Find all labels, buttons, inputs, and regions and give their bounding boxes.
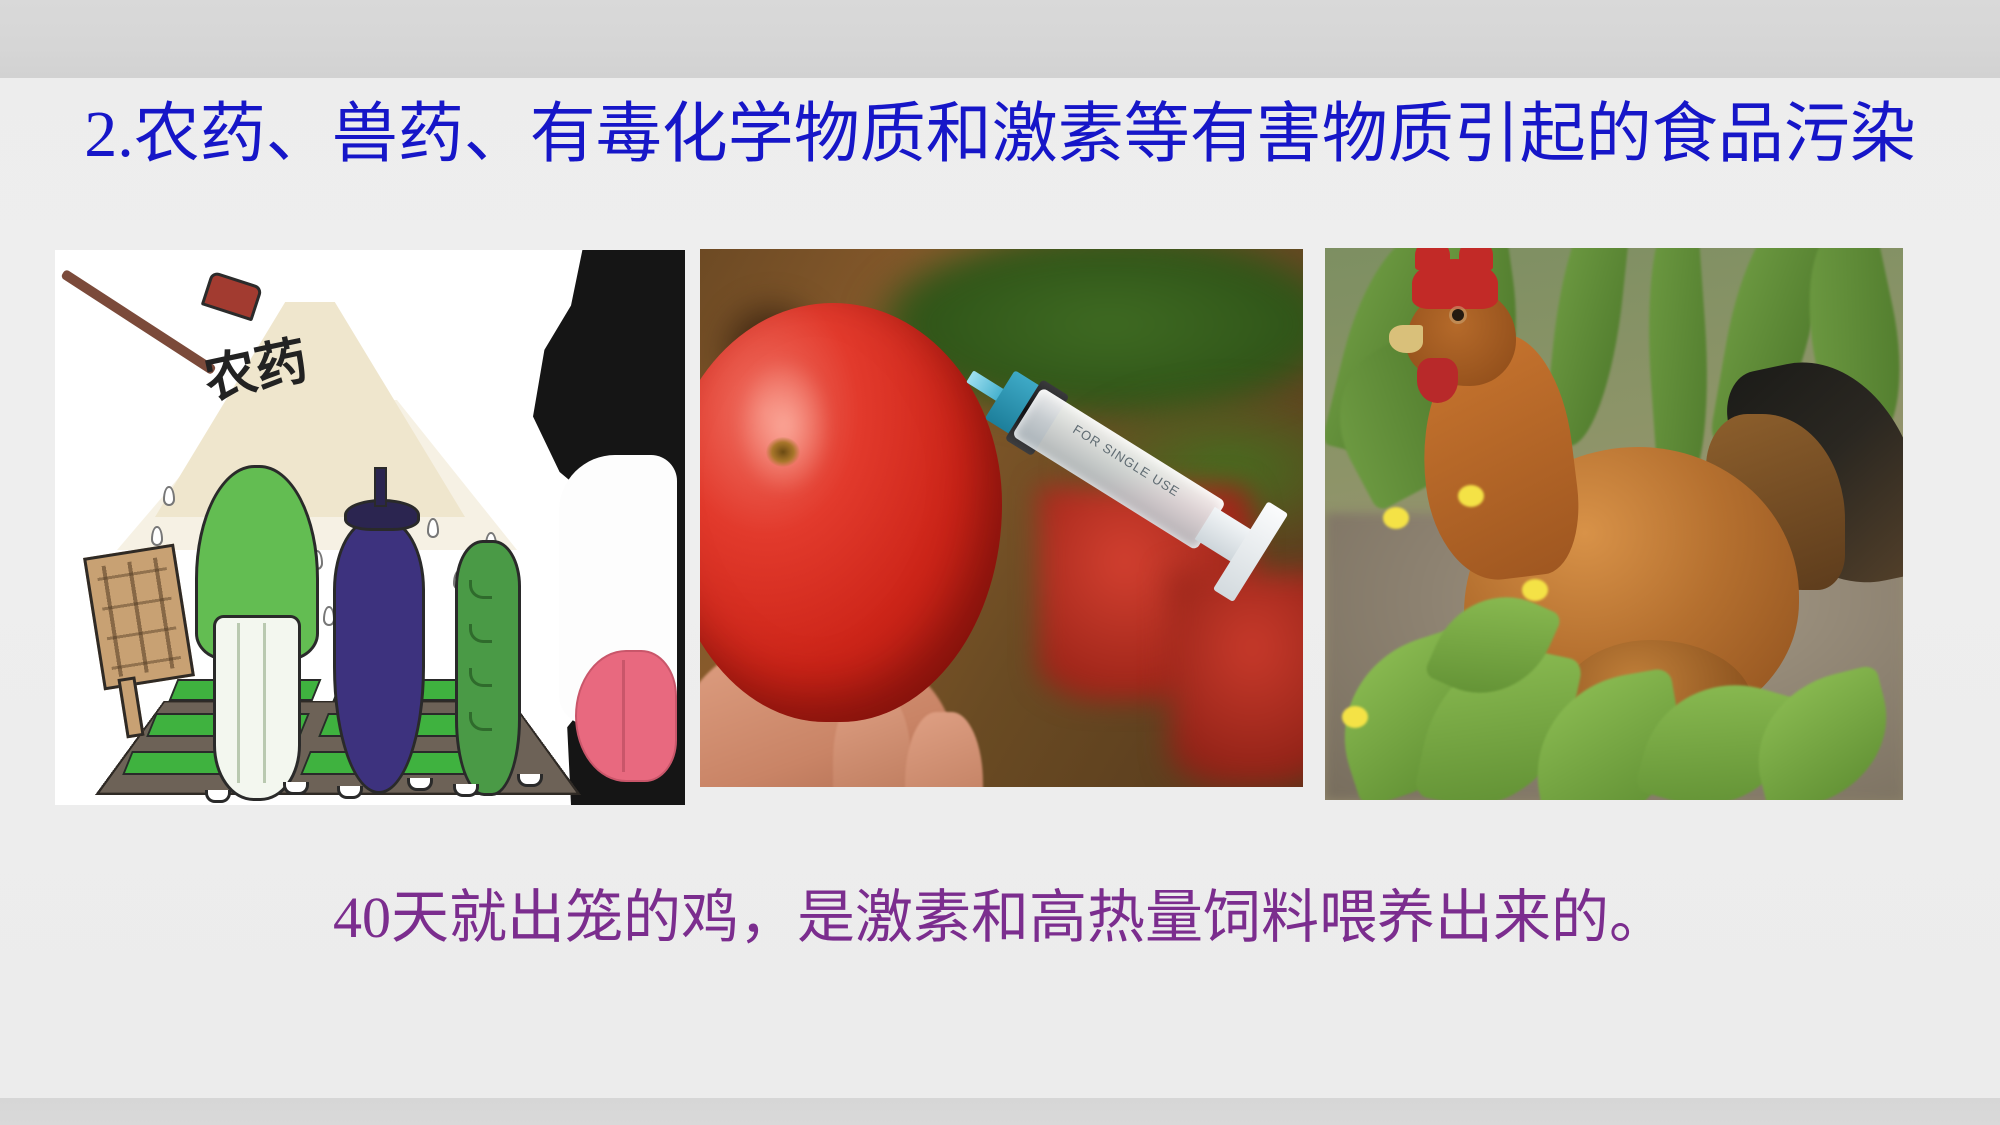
page-title: 2.农药、兽药、有毒化学物质和激素等有害物质引起的食品污染 [0, 96, 2000, 174]
slide-root: 2.农药、兽药、有毒化学物质和激素等有害物质引起的食品污染 农药 [0, 0, 2000, 1125]
syringe-barrel [1012, 387, 1226, 550]
sprayer-pole-icon [60, 269, 216, 375]
pesticide-cartoon-canvas: 农药 [55, 250, 685, 805]
pesticide-cartoon-image: 农药 [55, 250, 685, 805]
cucumber-foot [453, 784, 479, 797]
chicken-image [1325, 248, 1903, 800]
sign-glyphs [96, 556, 183, 678]
slide-caption: 40天就出笼的鸡，是激素和高热量饲料喂养出来的。 [0, 880, 2000, 956]
eggplant-stem [374, 467, 387, 507]
cabbage-character [195, 465, 313, 795]
spray-drop [427, 518, 439, 538]
cabbage-stalk [213, 615, 301, 801]
yellow-flower [1522, 579, 1548, 601]
chicken-wattle [1417, 358, 1457, 402]
spray-drop [163, 486, 175, 506]
tomato-highlight [736, 357, 832, 497]
eggplant-character [333, 518, 425, 794]
cabbage-rib [237, 623, 240, 783]
spray-drop [151, 526, 163, 546]
eggplant-foot [337, 786, 363, 799]
warning-sign [83, 544, 195, 691]
chicken-photo-canvas [1325, 248, 1903, 800]
chicken-eye [1452, 309, 1464, 321]
tomato-injection-image: FOR SINGLE USE [700, 249, 1303, 787]
cabbage-rib [263, 623, 266, 783]
cabbage-foot [205, 790, 231, 803]
sprayer-nozzle-icon [201, 271, 263, 322]
tomato-photo-canvas: FOR SINGLE USE [700, 249, 1303, 787]
bottom-band [0, 1098, 2000, 1125]
spray-cone-outer [117, 400, 517, 550]
chicken-comb [1412, 259, 1499, 309]
chicken-beak [1389, 325, 1424, 353]
person-tongue [575, 650, 677, 782]
top-band [0, 0, 2000, 78]
